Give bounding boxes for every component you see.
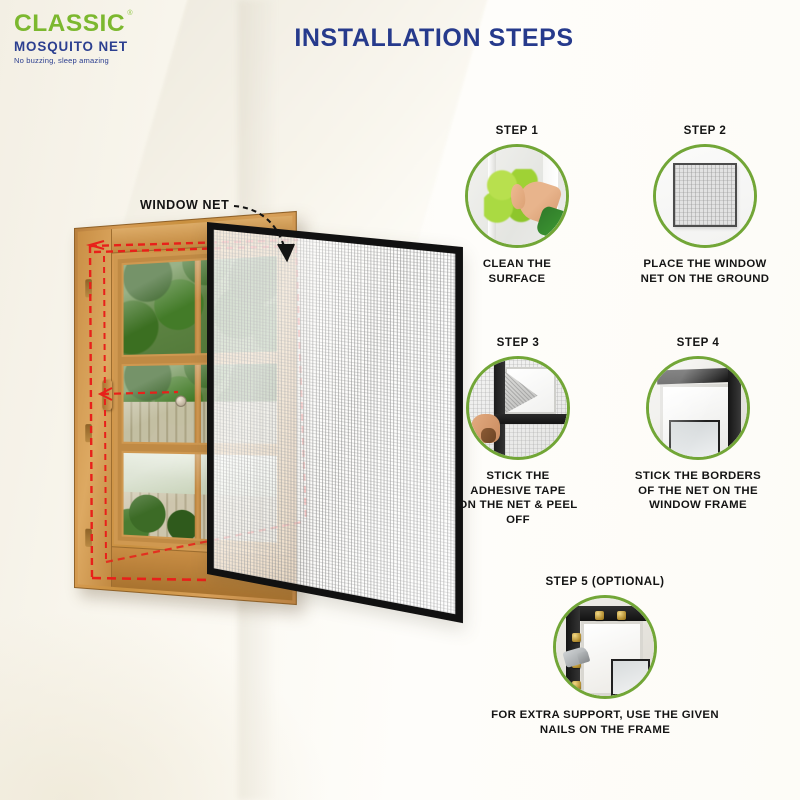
step-2-artwork <box>656 147 754 245</box>
step-5: STEP 5 (OPTIONAL) FOR EXTRA SUPPORT, USE… <box>485 575 725 737</box>
window-latch <box>175 395 186 407</box>
step-1-image <box>465 144 569 248</box>
step-2-title: STEP 2 <box>632 124 778 137</box>
step-4: STEP 4 STICK THE BORDERS OF THE NET ON T… <box>622 336 774 513</box>
step-3: STEP 3 STICK THE ADHESIVE TAPE ON THE NE… <box>448 336 588 527</box>
step-4-image <box>646 356 750 460</box>
nail-icon <box>572 633 581 642</box>
step-5-caption: FOR EXTRA SUPPORT, USE THE GIVEN NAILS O… <box>485 708 725 737</box>
brand-tagline: No buzzing, sleep amazing <box>14 57 148 65</box>
step-5-image <box>553 595 657 699</box>
installation-steps-infographic: CLASSIC ® MOSQUITO NET No buzzing, sleep… <box>0 0 800 800</box>
window-glass <box>611 659 650 696</box>
window-hinge-middle <box>85 424 92 442</box>
registered-trademark-icon: ® <box>127 10 133 17</box>
artwork-highlight <box>649 359 747 457</box>
fingers-icon <box>481 428 497 444</box>
nail-icon <box>572 681 581 690</box>
window-net-callout-label: WINDOW NET <box>140 198 229 212</box>
callout-arrow-icon <box>228 200 338 275</box>
window-handle <box>102 380 112 410</box>
nail-icon <box>617 611 626 620</box>
floor-highlight <box>0 610 330 800</box>
page-title: INSTALLATION STEPS <box>0 24 800 53</box>
step-3-image <box>466 356 570 460</box>
step-3-title: STEP 3 <box>448 336 588 349</box>
step-4-title: STEP 4 <box>622 336 774 349</box>
mosquito-net-panel <box>207 222 463 623</box>
step-2-caption: PLACE THE WINDOW NET ON THE GROUND <box>632 257 778 286</box>
nail-icon <box>595 611 604 620</box>
step-2-image <box>653 144 757 248</box>
step-5-title: STEP 5 (OPTIONAL) <box>485 575 725 588</box>
step-2: STEP 2 PLACE THE WINDOW NET ON THE GROUN… <box>632 124 778 286</box>
step-1: STEP 1 CLEAN THE SURFACE <box>455 124 579 286</box>
step-5-artwork <box>556 598 654 696</box>
step-1-artwork <box>468 147 566 245</box>
step-1-title: STEP 1 <box>455 124 579 137</box>
window-hinge-bottom <box>85 529 92 547</box>
mesh-net-square-icon <box>673 163 738 228</box>
step-3-caption: STICK THE ADHESIVE TAPE ON THE NET & PEE… <box>448 469 588 527</box>
step-3-artwork <box>469 359 567 457</box>
net-highlight <box>214 230 456 615</box>
step-1-caption: CLEAN THE SURFACE <box>455 257 579 286</box>
window-hinge-top <box>85 279 92 297</box>
step-4-caption: STICK THE BORDERS OF THE NET ON THE WIND… <box>622 469 774 513</box>
net-border-horizontal <box>494 414 567 424</box>
net-border-vertical <box>494 359 505 457</box>
step-4-artwork <box>649 359 747 457</box>
window-net-illustration <box>60 222 412 604</box>
